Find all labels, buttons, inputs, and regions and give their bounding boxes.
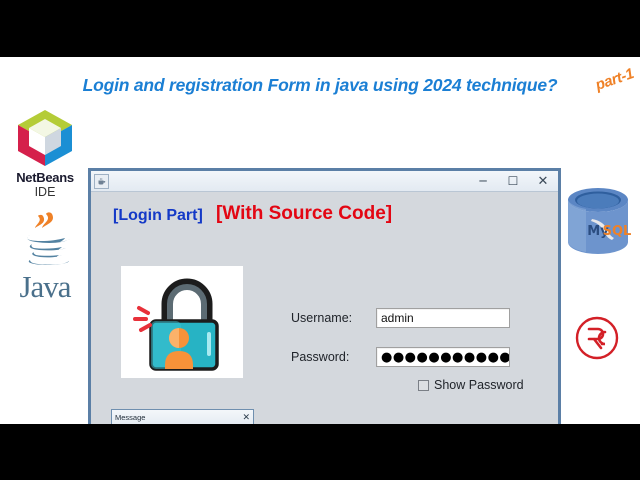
netbeans-cube-icon [14, 107, 76, 169]
overlay-login-part-label: [Login Part] [113, 207, 203, 225]
message-dialog-titlebar[interactable]: Message ✕ [112, 410, 253, 425]
java-wordmark: Java [2, 272, 88, 301]
username-label: Username: [291, 311, 376, 325]
svg-text:SQL: SQL [603, 224, 632, 239]
username-input[interactable]: admin [376, 308, 510, 328]
show-password-checkbox[interactable]: Show Password [418, 378, 524, 392]
username-row: Username: admin [291, 308, 510, 328]
password-row: Password: ●●●●●●●●●●●●● [291, 347, 510, 367]
java-coffee-icon [94, 174, 109, 189]
password-input[interactable]: ●●●●●●●●●●●●● [376, 347, 510, 367]
netbeans-ide-label: IDE [2, 185, 88, 199]
left-logo-rail: NetBeans IDE Java [2, 107, 88, 301]
unlocked-padlock-user-icon [121, 266, 243, 378]
window-titlebar[interactable]: ─ ☐ ✕ [91, 171, 558, 192]
show-password-label: Show Password [434, 378, 524, 392]
message-close-icon[interactable]: ✕ [242, 413, 250, 422]
close-button[interactable]: ✕ [528, 171, 558, 191]
message-dialog-title: Message [115, 413, 242, 422]
password-label: Password: [291, 350, 376, 364]
window-controls: ─ ☐ ✕ [468, 171, 558, 191]
letterbox-bottom [0, 424, 640, 480]
runcodes-logo-icon [574, 315, 620, 366]
content-canvas: Login and registration Form in java usin… [0, 57, 640, 424]
netbeans-label: NetBeans [2, 170, 88, 185]
checkbox-box[interactable] [418, 380, 429, 391]
mysql-database-icon: My SQL [562, 185, 634, 266]
maximize-button[interactable]: ☐ [498, 171, 528, 191]
page-title: Login and registration Form in java usin… [0, 75, 640, 96]
screenshot-stage: Login and registration Form in java usin… [0, 0, 640, 480]
java-logo: Java [2, 211, 88, 301]
password-masked-value: ●●●●●●●●●●●●● [381, 351, 509, 364]
overlay-source-code-label: [With Source Code] [216, 203, 392, 225]
minimize-button[interactable]: ─ [468, 171, 498, 191]
letterbox-top [0, 0, 640, 57]
